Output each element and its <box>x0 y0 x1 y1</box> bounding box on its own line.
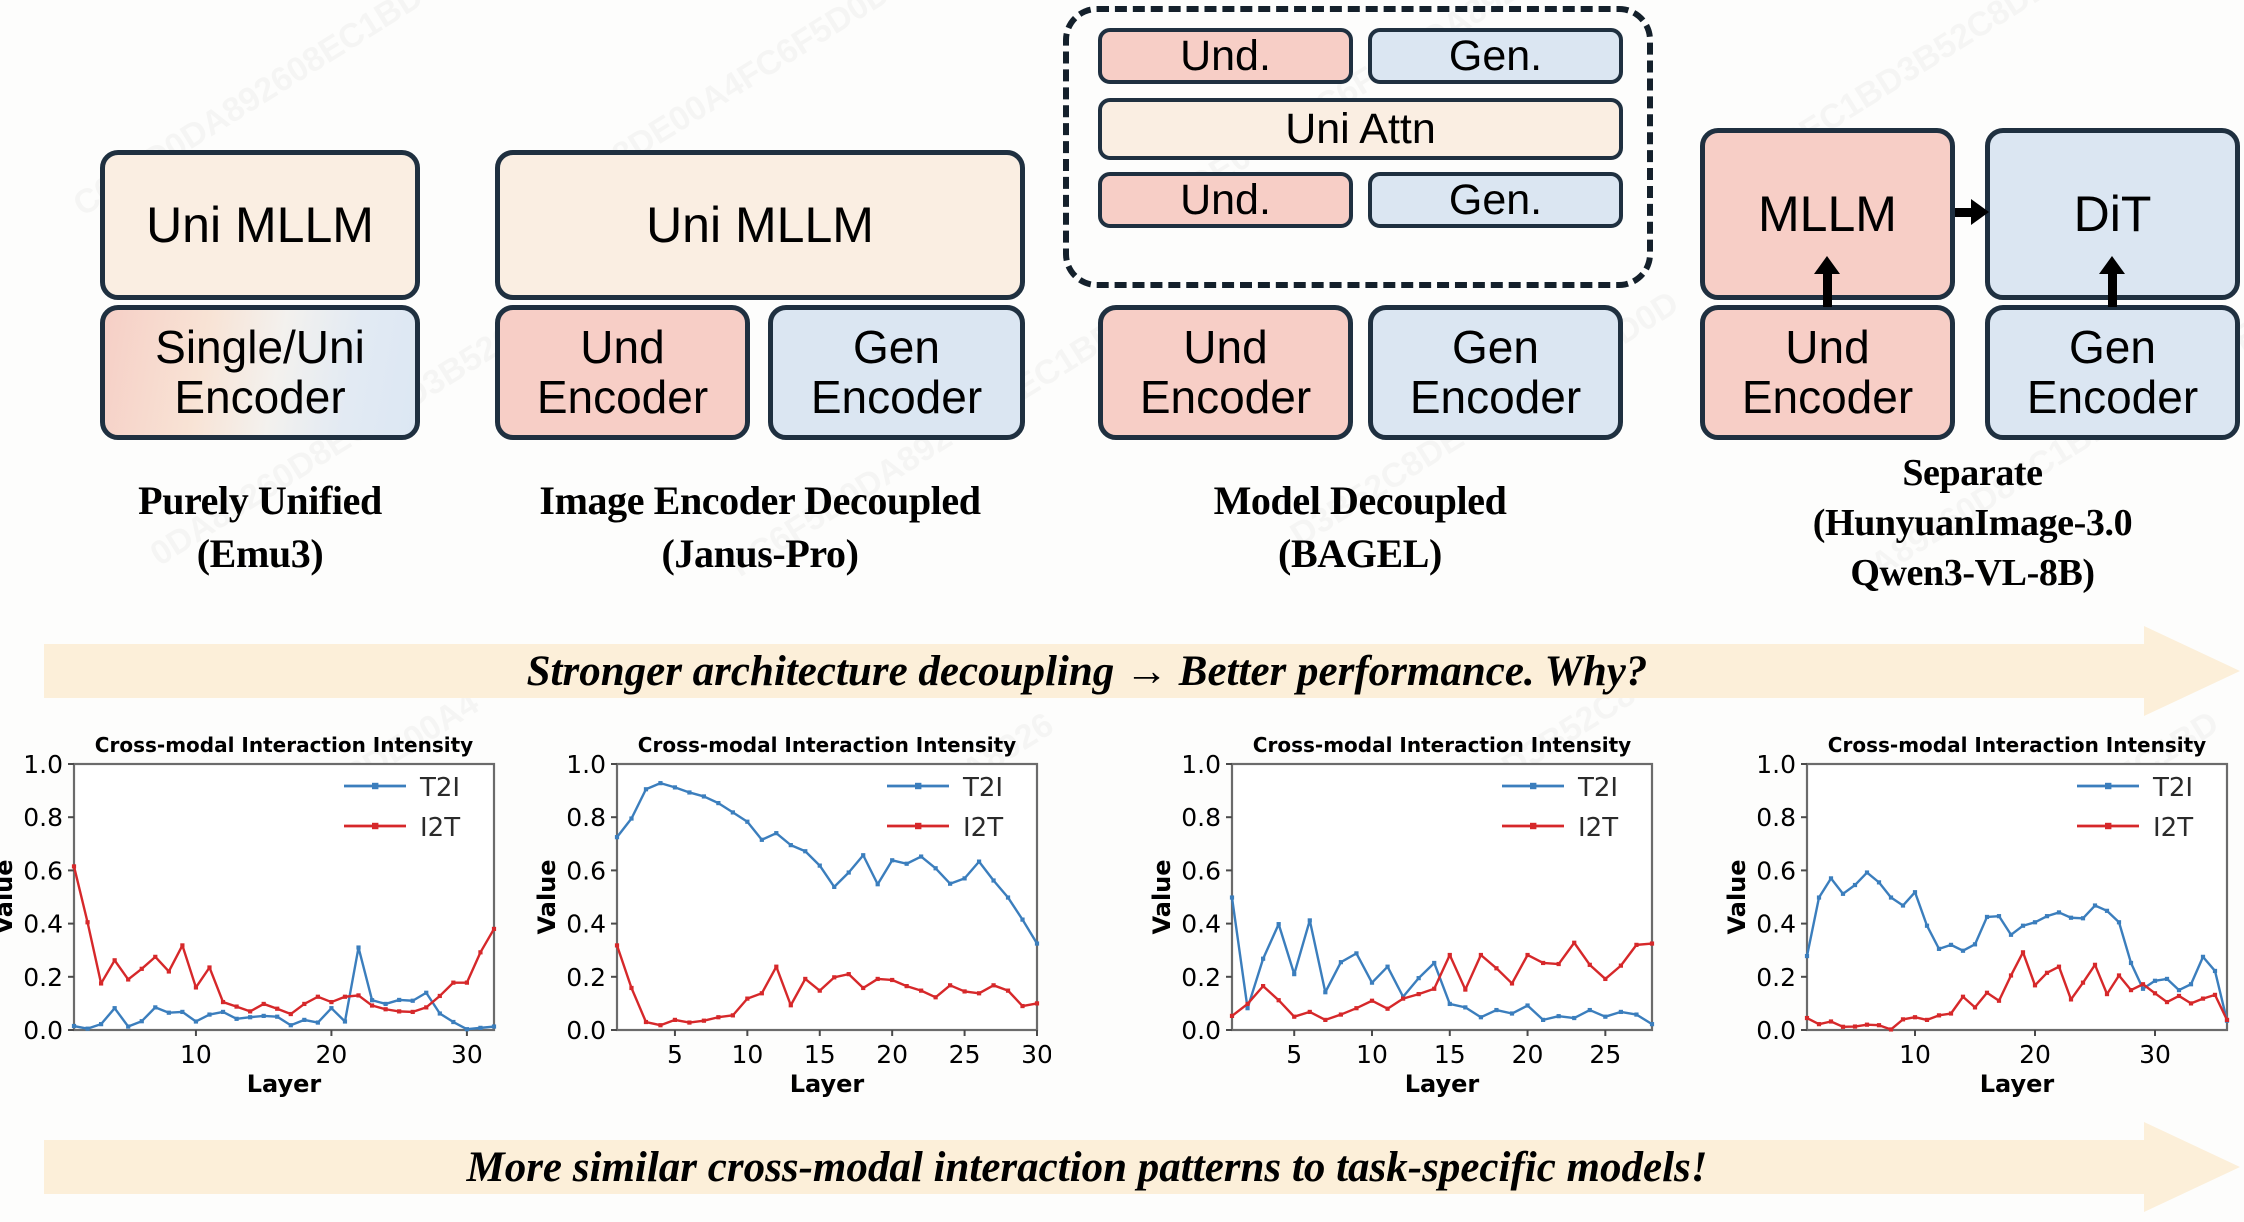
y-tick-label: 0.2 <box>1756 963 1796 992</box>
box-und-bottom-col3: Und. <box>1098 172 1353 228</box>
chart-title: Cross-modal Interaction Intensity <box>1828 733 2206 757</box>
x-tick-label: 15 <box>1434 1040 1466 1069</box>
box-und-top-col3: Und. <box>1098 28 1353 84</box>
y-axis-label: Value <box>0 859 18 934</box>
caption-separate: Separate (HunyuanImage-3.0 Qwen3-VL-8B) <box>1700 448 2244 598</box>
y-tick-label: 1.0 <box>566 750 606 779</box>
legend-label-T2I: T2I <box>962 773 1003 803</box>
y-tick-label: 0.0 <box>1181 1016 1221 1045</box>
box-uni-mllm-col2: Uni MLLM <box>495 150 1025 300</box>
chart-title: Cross-modal Interaction Intensity <box>1253 733 1631 757</box>
chart-janus-pro-svg: Cross-modal Interaction Intensity0.00.20… <box>535 722 1051 1102</box>
y-tick-label: 0.8 <box>23 803 63 832</box>
x-tick-label: 30 <box>1021 1040 1051 1069</box>
chart-title: Cross-modal Interaction Intensity <box>638 733 1016 757</box>
arrow-mllm-to-dit-head <box>1971 199 1989 225</box>
y-tick-label: 1.0 <box>1181 750 1221 779</box>
box-gen-encoder-col3: Gen Encoder <box>1368 305 1623 440</box>
box-gen-encoder-col2: Gen Encoder <box>768 305 1025 440</box>
x-tick-label: 10 <box>731 1040 763 1069</box>
chart-janus-pro: Cross-modal Interaction Intensity0.00.20… <box>535 722 1051 1102</box>
chart-bagel: Cross-modal Interaction Intensity0.00.20… <box>1150 722 1666 1102</box>
chart-emu3-svg: Cross-modal Interaction Intensity0.00.20… <box>0 722 508 1102</box>
x-tick-label: 20 <box>876 1040 908 1069</box>
x-tick-label: 15 <box>804 1040 836 1069</box>
x-tick-label: 25 <box>1589 1040 1621 1069</box>
caption-purely-unified: Purely Unified (Emu3) <box>40 475 480 581</box>
y-tick-label: 0.4 <box>23 910 63 939</box>
y-tick-label: 0.0 <box>23 1016 63 1045</box>
x-tick-label: 30 <box>451 1040 483 1069</box>
y-tick-label: 0.0 <box>1756 1016 1796 1045</box>
box-uni-attn-col3: Uni Attn <box>1098 98 1623 160</box>
x-tick-label: 30 <box>2139 1040 2171 1069</box>
caption-image-encoder-decoupled: Image Encoder Decoupled (Janus-Pro) <box>470 475 1050 581</box>
x-tick-label: 10 <box>180 1040 212 1069</box>
chart-title: Cross-modal Interaction Intensity <box>95 733 473 757</box>
poster-canvas: C6F5D0DA892608EC1BD3B52 C8DE00A4FC6F5D0D… <box>0 0 2244 1222</box>
box-single-uni-encoder: Single/Uni Encoder <box>100 305 420 440</box>
legend-label-T2I: T2I <box>2152 773 2193 803</box>
x-axis-label: Layer <box>790 1070 865 1098</box>
chart-hunyuan-qwen-svg: Cross-modal Interaction Intensity0.00.20… <box>1725 722 2241 1102</box>
box-und-encoder-col3: Und Encoder <box>1098 305 1353 440</box>
y-tick-label: 0.6 <box>23 856 63 885</box>
x-tick-label: 10 <box>1899 1040 1931 1069</box>
x-tick-label: 5 <box>667 1040 683 1069</box>
x-tick-label: 20 <box>1512 1040 1544 1069</box>
legend-label-I2T: I2T <box>2153 813 2193 843</box>
legend-label-I2T: I2T <box>1578 813 1618 843</box>
y-tick-label: 0.6 <box>1756 856 1796 885</box>
box-und-encoder-col2: Und Encoder <box>495 305 750 440</box>
box-gen-encoder-col4: Gen Encoder <box>1985 305 2240 440</box>
y-tick-label: 0.4 <box>566 910 606 939</box>
y-tick-label: 0.2 <box>23 963 63 992</box>
arrow-und-to-mllm-head <box>1814 256 1840 274</box>
y-tick-label: 1.0 <box>23 750 63 779</box>
chart-emu3: Cross-modal Interaction Intensity0.00.20… <box>0 722 508 1102</box>
x-axis-label: Layer <box>247 1070 322 1098</box>
x-axis-label: Layer <box>1405 1070 1480 1098</box>
box-und-encoder-col4: Und Encoder <box>1700 305 1955 440</box>
box-uni-mllm-col1: Uni MLLM <box>100 150 420 300</box>
x-tick-label: 25 <box>949 1040 981 1069</box>
banner-bottom: More similar cross-modal interaction pat… <box>44 1122 2240 1212</box>
banner-top-text: Stronger architecture decoupling → Bette… <box>44 626 2240 716</box>
chart-hunyuan-qwen: Cross-modal Interaction Intensity0.00.20… <box>1725 722 2241 1102</box>
legend-label-T2I: T2I <box>419 773 460 803</box>
y-tick-label: 0.8 <box>1756 803 1796 832</box>
x-tick-label: 5 <box>1286 1040 1302 1069</box>
legend-label-I2T: I2T <box>420 813 460 843</box>
y-tick-label: 0.4 <box>1756 910 1796 939</box>
x-tick-label: 10 <box>1356 1040 1388 1069</box>
banner-top: Stronger architecture decoupling → Bette… <box>44 626 2240 716</box>
x-tick-label: 20 <box>2019 1040 2051 1069</box>
banner-bottom-text: More similar cross-modal interaction pat… <box>44 1122 2240 1212</box>
x-tick-label: 20 <box>316 1040 348 1069</box>
y-axis-label: Value <box>1725 859 1751 934</box>
y-axis-label: Value <box>535 859 561 934</box>
y-tick-label: 0.6 <box>1181 856 1221 885</box>
y-tick-label: 0.0 <box>566 1016 606 1045</box>
arrow-gen-to-dit-head <box>2099 256 2125 274</box>
caption-model-decoupled: Model Decoupled (BAGEL) <box>1090 475 1630 581</box>
x-axis-label: Layer <box>1980 1070 2055 1098</box>
y-tick-label: 0.2 <box>566 963 606 992</box>
box-gen-bottom-col3: Gen. <box>1368 172 1623 228</box>
y-tick-label: 0.4 <box>1181 910 1221 939</box>
arrow-gen-to-dit-shaft <box>2108 272 2117 307</box>
y-tick-label: 0.2 <box>1181 963 1221 992</box>
y-tick-label: 0.8 <box>1181 803 1221 832</box>
chart-bagel-svg: Cross-modal Interaction Intensity0.00.20… <box>1150 722 1666 1102</box>
y-tick-label: 1.0 <box>1756 750 1796 779</box>
legend-label-T2I: T2I <box>1577 773 1618 803</box>
arrow-und-to-mllm-shaft <box>1823 272 1832 307</box>
box-gen-top-col3: Gen. <box>1368 28 1623 84</box>
legend-label-I2T: I2T <box>963 813 1003 843</box>
y-axis-label: Value <box>1150 859 1176 934</box>
y-tick-label: 0.8 <box>566 803 606 832</box>
y-tick-label: 0.6 <box>566 856 606 885</box>
